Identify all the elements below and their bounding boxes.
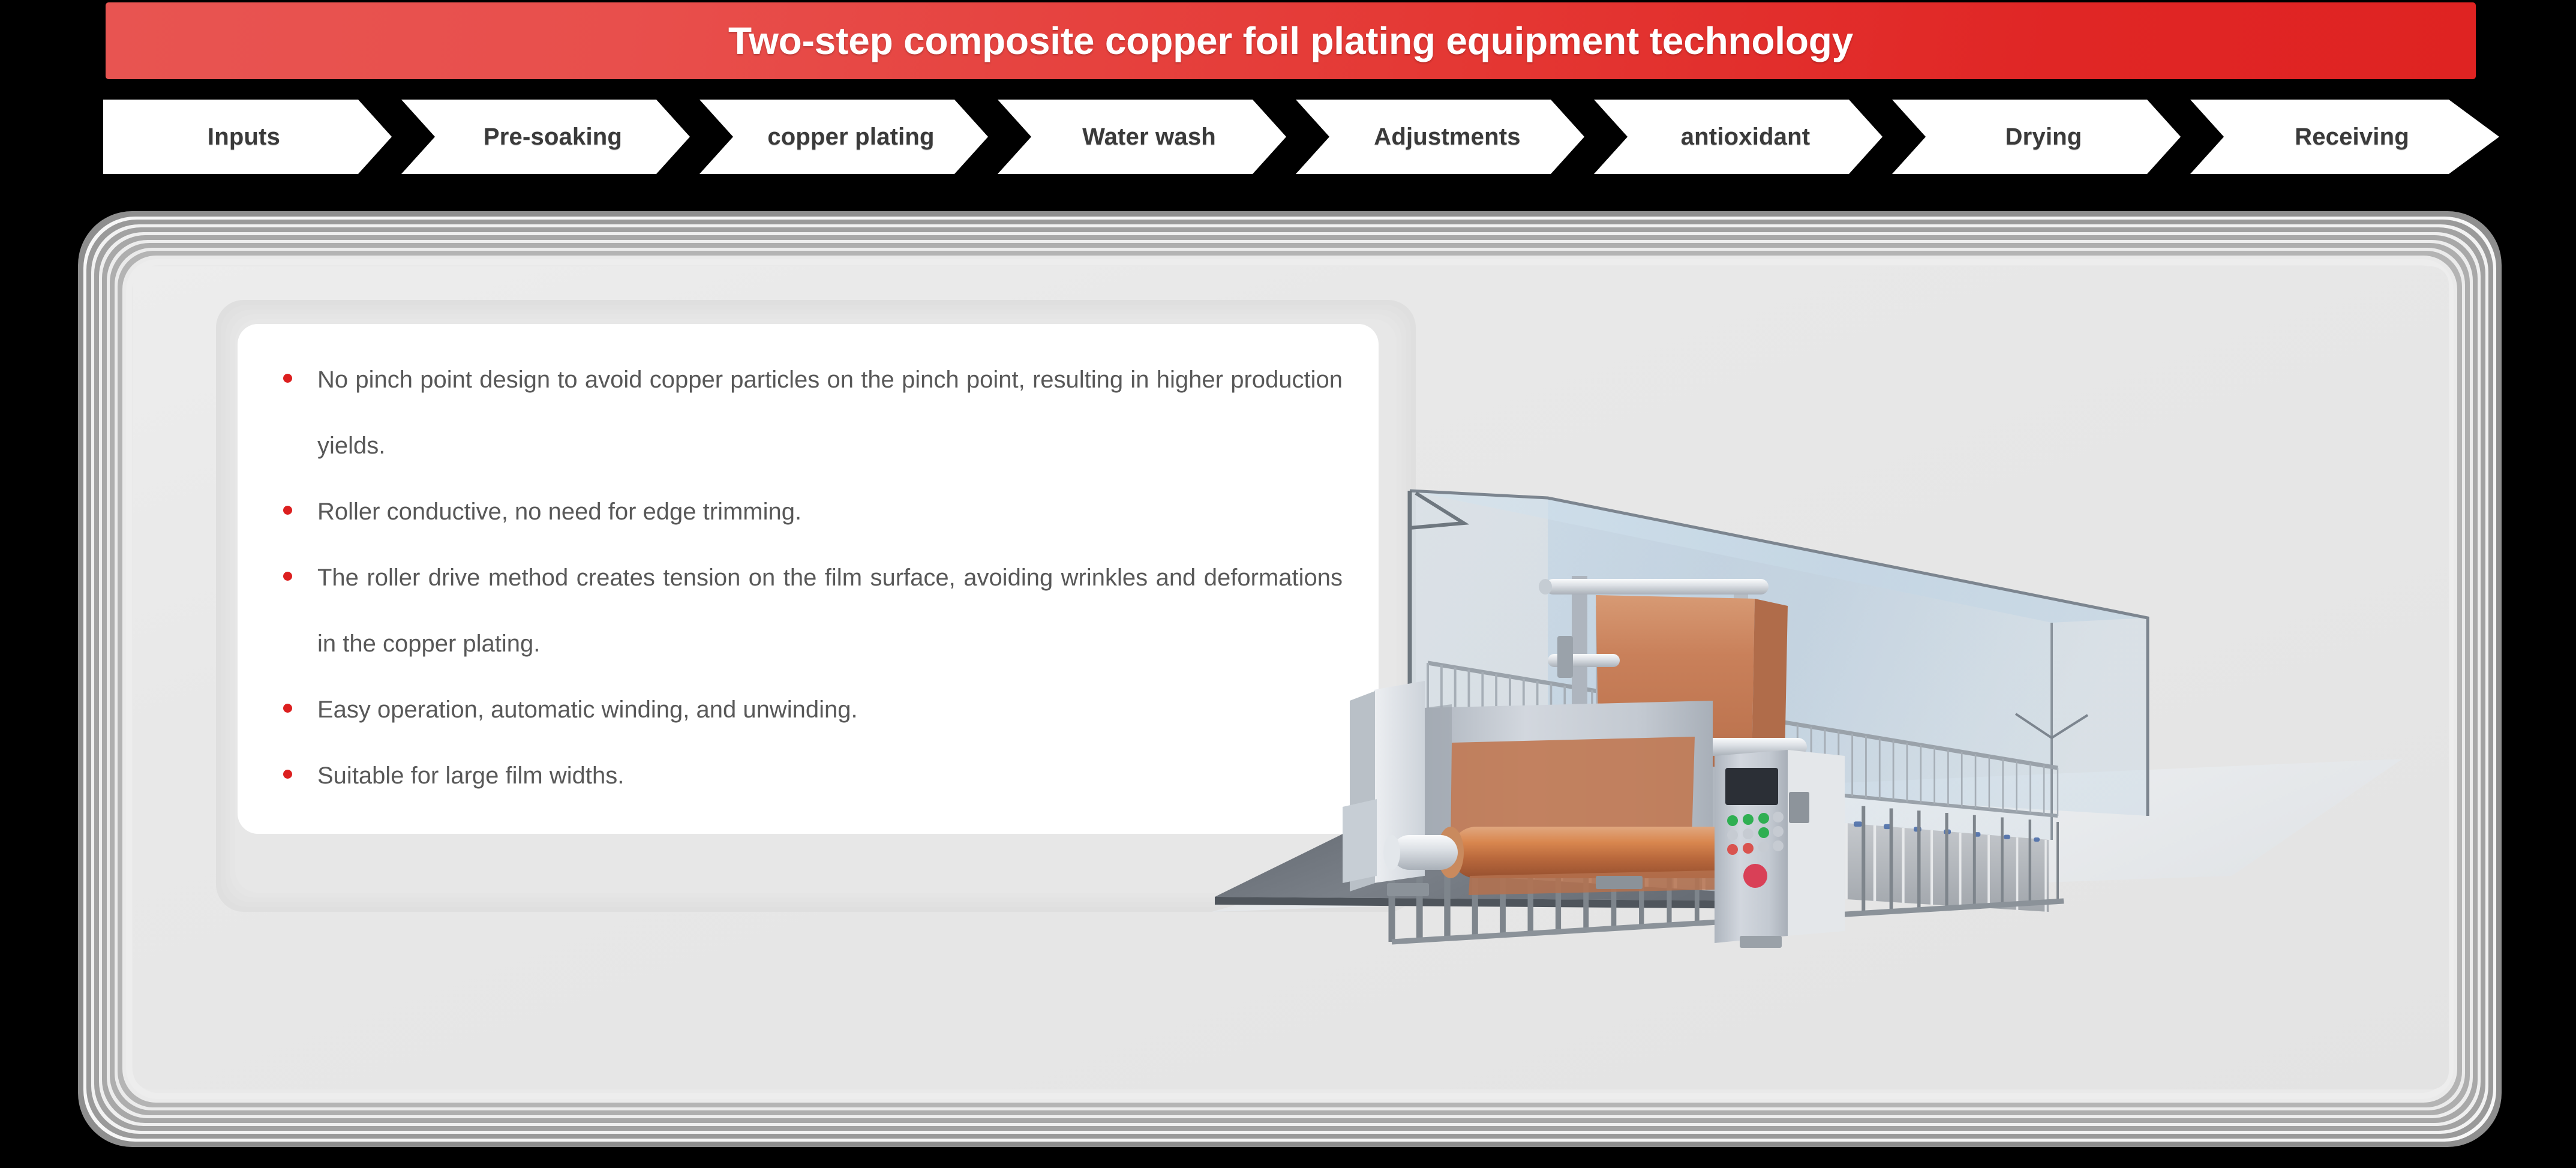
emergency-stop-button [1743, 864, 1767, 888]
process-step-label: Adjustments [1374, 124, 1520, 151]
top-roller-cap [1539, 579, 1552, 594]
feature-bullet: Suitable for large film widths. [263, 743, 1343, 809]
tank-nozzle [2004, 835, 2010, 839]
process-step-label: antioxidant [1681, 124, 1811, 151]
features-bullet-list: No pinch point design to avoid copper pa… [263, 347, 1343, 809]
tank-nozzle [2034, 837, 2040, 842]
features-card: No pinch point design to avoid copper pa… [238, 324, 1379, 834]
tank-nozzle [1854, 821, 1862, 827]
process-step-6[interactable]: antioxidant [1594, 100, 1883, 174]
bullet-dot-icon [283, 770, 292, 779]
process-step-label: Inputs [208, 124, 280, 151]
slide-canvas: Two-step composite copper foil plating e… [0, 0, 2576, 1168]
feature-bullet-text: The roller drive method creates tension … [317, 545, 1343, 677]
process-step-label: copper plating [767, 124, 934, 151]
feature-bullet-text: Roller conductive, no need for edge trim… [317, 479, 1343, 545]
left-stand-base [1343, 799, 1377, 883]
process-step-4[interactable]: Water wash [998, 100, 1286, 174]
bullet-dot-icon [283, 506, 292, 515]
process-step-2[interactable]: Pre-soaking [401, 100, 690, 174]
process-flow-chevrons: InputsPre-soakingcopper platingWater was… [103, 100, 2479, 174]
control-screen [1725, 768, 1778, 805]
process-step-8[interactable]: Receiving [2190, 100, 2499, 174]
process-step-label: Receiving [2295, 124, 2409, 151]
panel-box [1789, 792, 1809, 823]
process-step-label: Water wash [1082, 124, 1216, 151]
feature-bullet: The roller drive method creates tension … [263, 545, 1343, 677]
equipment-illustration [1212, 456, 2418, 978]
slide-title-banner: Two-step composite copper foil plating e… [106, 2, 2476, 79]
roll-shaft-left [1392, 835, 1458, 870]
feature-bullet-text: Suitable for large film widths. [317, 743, 1343, 809]
process-step-7[interactable]: Drying [1892, 100, 2181, 174]
feature-bullet: Roller conductive, no need for edge trim… [263, 479, 1343, 545]
feature-bullet: Easy operation, automatic winding, and u… [263, 677, 1343, 743]
bullet-dot-icon [283, 374, 292, 383]
process-step-5[interactable]: Adjustments [1296, 100, 1584, 174]
process-step-1[interactable]: Inputs [103, 100, 392, 174]
feature-bullet-text: No pinch point design to avoid copper pa… [317, 347, 1343, 479]
bullet-dot-icon [283, 704, 292, 713]
page-title: Two-step composite copper foil plating e… [728, 19, 1853, 63]
bullet-dot-icon [283, 572, 292, 581]
process-step-3[interactable]: copper plating [699, 100, 988, 174]
feature-bullet-text: Easy operation, automatic winding, and u… [317, 677, 1343, 743]
control-cabinet-side [1788, 750, 1845, 936]
top-roller [1545, 579, 1769, 594]
feature-bullet: No pinch point design to avoid copper pa… [263, 347, 1343, 479]
process-step-label: Drying [2005, 124, 2082, 151]
copper-foil-plating-line-svg [1212, 456, 2418, 978]
control-panel [1715, 750, 1845, 943]
process-step-label: Pre-soaking [484, 124, 622, 151]
